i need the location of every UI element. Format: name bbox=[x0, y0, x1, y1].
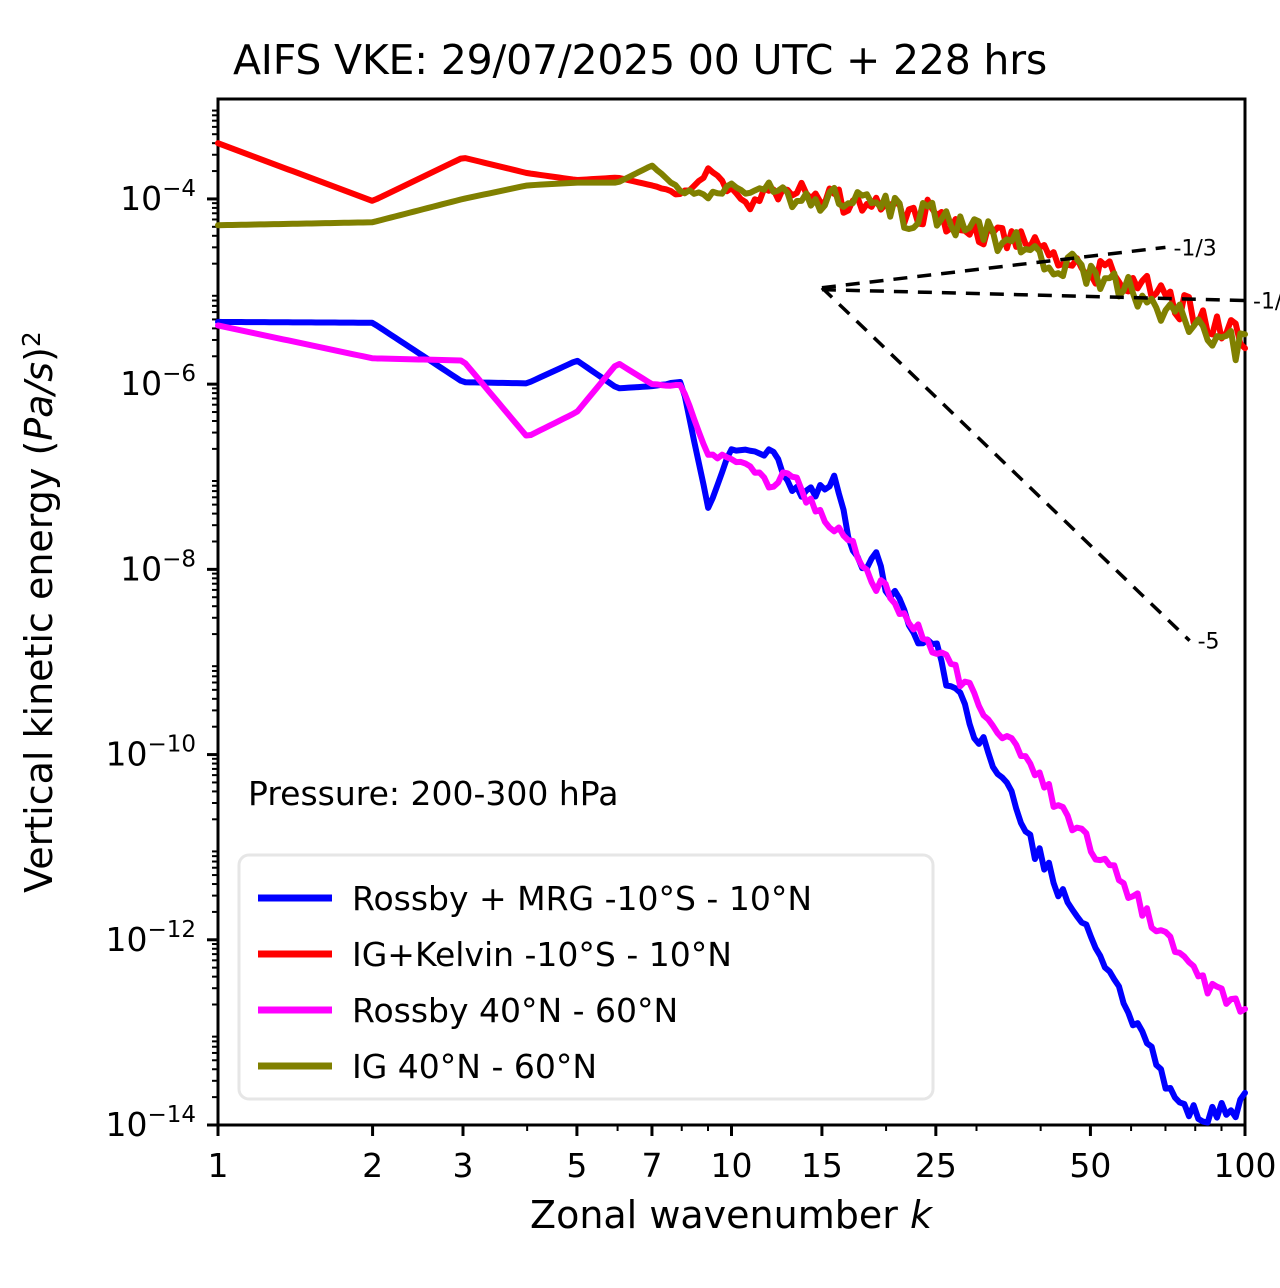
y-axis-label-tail: ) bbox=[17, 347, 61, 362]
x-tick-label-15: 15 bbox=[801, 1146, 843, 1185]
legend-label-0: Rossby + MRG -10°S - 10°N bbox=[352, 879, 812, 918]
legend-label-1: IG+Kelvin -10°S - 10°N bbox=[352, 935, 732, 974]
y-axis-label-main: Vertical kinetic energy ( bbox=[17, 441, 61, 893]
y-tick-label-10-12: 10−12 bbox=[105, 917, 196, 959]
y-axis-label-italic: Pa/s bbox=[17, 362, 61, 441]
y-tick-label-10-14: 10−14 bbox=[105, 1102, 196, 1144]
x-tick-label-7: 7 bbox=[641, 1146, 662, 1185]
legend-label-2: Rossby 40°N - 60°N bbox=[352, 991, 678, 1030]
x-tick-label-3: 3 bbox=[453, 1146, 474, 1185]
plot-canvas: 1235710152550100 10−410−610−810−1010−121… bbox=[0, 0, 1280, 1288]
x-tick-label-25: 25 bbox=[915, 1146, 957, 1185]
y-tick-label-10-10: 10−10 bbox=[105, 732, 196, 774]
svg-text:Vertical kinetic energy (Pa/s): Vertical kinetic energy (Pa/s)2 bbox=[17, 331, 61, 893]
legend[interactable]: Rossby + MRG -10°S - 10°NIG+Kelvin -10°S… bbox=[239, 855, 933, 1099]
reference-line-label-2: -5 bbox=[1198, 630, 1220, 655]
x-axis-label: Zonal wavenumber k bbox=[530, 1193, 934, 1237]
figure-root: AIFS VKE: 29/07/2025 00 UTC + 228 hrs 12… bbox=[0, 0, 1280, 1288]
reference-line-label-0: -1/3 bbox=[1173, 236, 1216, 261]
y-axis-label: Vertical kinetic energy (Pa/s)2 bbox=[17, 331, 61, 893]
x-axis-ticks: 1235710152550100 bbox=[208, 1125, 1277, 1185]
x-tick-label-2: 2 bbox=[362, 1146, 383, 1185]
x-tick-label-50: 50 bbox=[1069, 1146, 1111, 1185]
x-axis-label-main: Zonal wavenumber bbox=[530, 1193, 910, 1237]
legend-label-3: IG 40°N - 60°N bbox=[352, 1047, 597, 1086]
y-tick-label-10-6: 10−6 bbox=[120, 361, 196, 403]
x-tick-label-100: 100 bbox=[1214, 1146, 1277, 1185]
y-tick-label-10-4: 10−4 bbox=[120, 176, 196, 218]
x-tick-label-5: 5 bbox=[566, 1146, 587, 1185]
x-tick-label-1: 1 bbox=[208, 1146, 229, 1185]
x-tick-label-10: 10 bbox=[711, 1146, 753, 1185]
y-axis-ticks: 10−410−610−810−1010−1210−14 bbox=[105, 111, 218, 1144]
reference-line-label-1: -1/3 bbox=[1253, 290, 1280, 315]
x-axis-label-italic: k bbox=[910, 1193, 934, 1237]
y-axis-label-superscript: 2 bbox=[17, 331, 46, 347]
y-tick-label-10-8: 10−8 bbox=[120, 546, 196, 588]
pressure-annotation: Pressure: 200-300 hPa bbox=[248, 774, 618, 813]
